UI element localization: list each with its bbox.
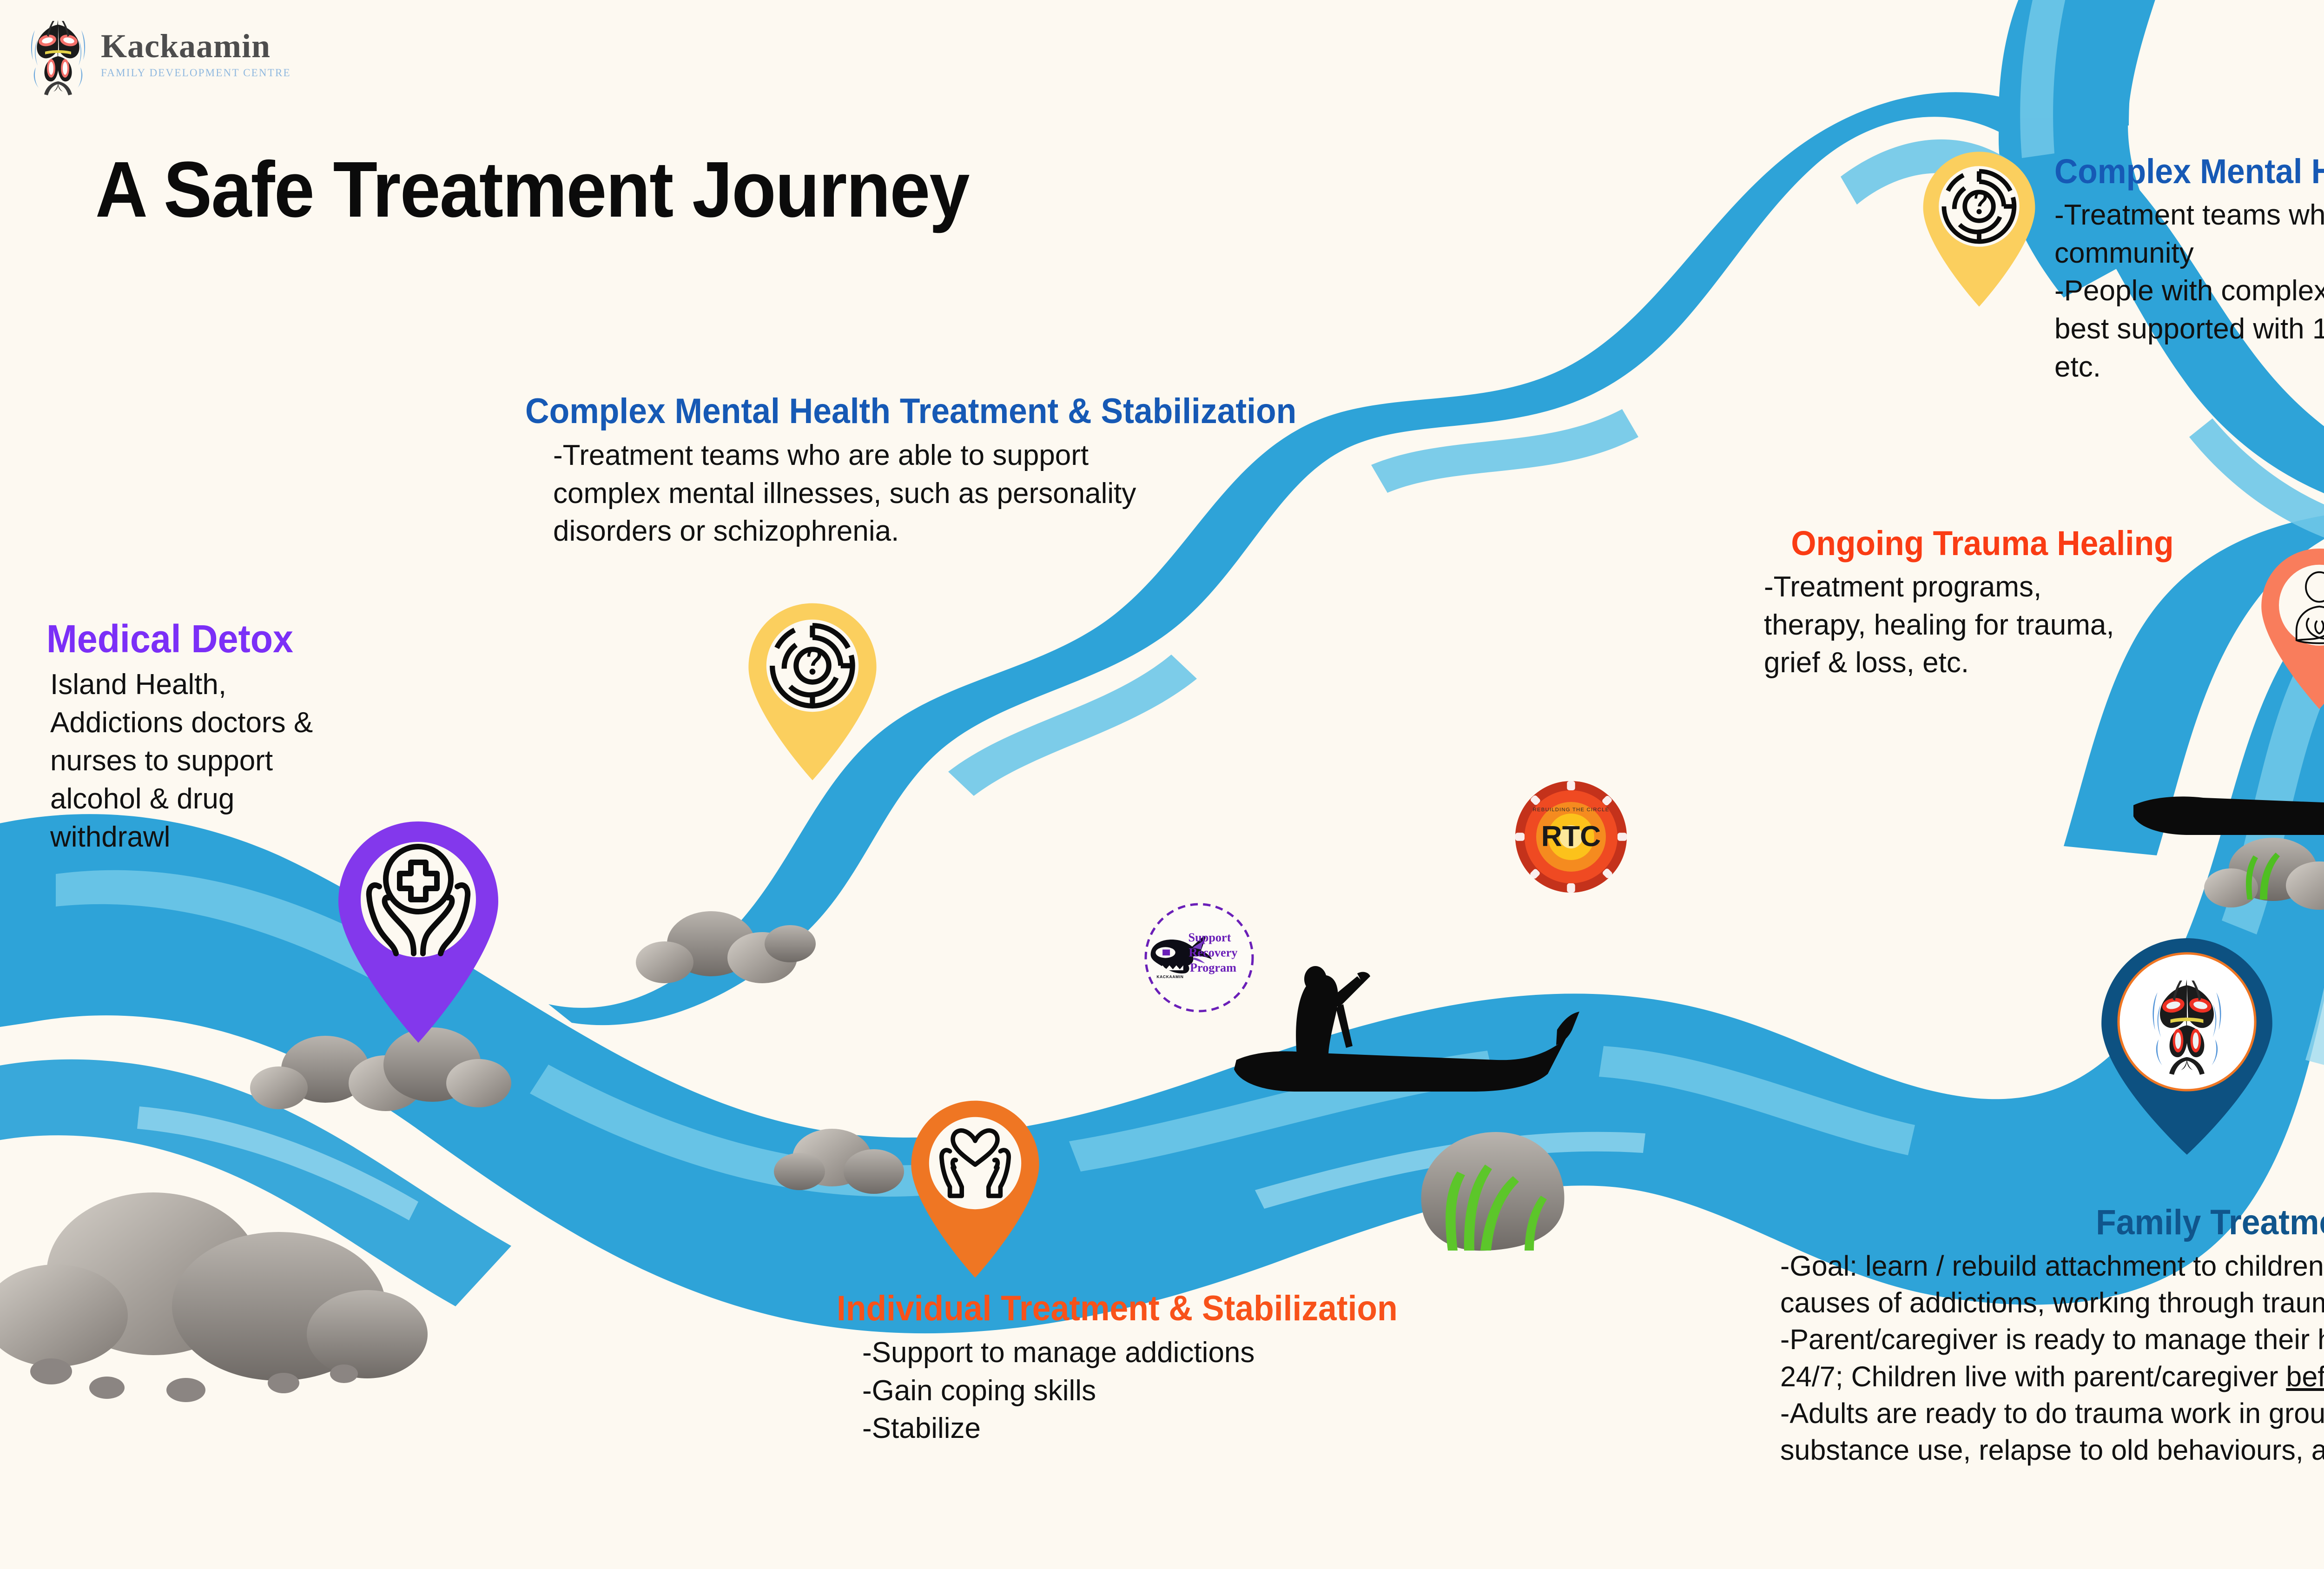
- canoe-with-paddler-icon: [1234, 966, 1579, 1092]
- brand-subtitle: FAMILY DEVELOPMENT CENTRE: [101, 67, 291, 78]
- rtc-badge-small: RTC REBUILDING THE CIRCLE: [1513, 779, 1629, 897]
- stage-body-family-treatment: -Goal: learn / rebuild attachment to chi…: [1780, 1248, 2324, 1469]
- stage-body-ongoing-trauma-healing: -Treatment programs, therapy, healing fo…: [1764, 568, 2245, 682]
- rtc-badge-label: RTC: [1541, 820, 1601, 853]
- stage-heading-individual-treatment-stabilization: Individual Treatment & Stabilization: [837, 1290, 1501, 1327]
- stage-block-individual-treatment-stabilization: Individual Treatment & Stabilization -Su…: [837, 1290, 1543, 1448]
- svg-text:Support: Support: [1188, 931, 1231, 944]
- rock-cluster-orange-pin: [774, 1129, 904, 1194]
- stage-body-cmh-therapy: -Treatment teams who are able to support…: [2054, 196, 2324, 386]
- stage-heading-cmh-treatment-stabilization: Complex Mental Health Treatment & Stabil…: [525, 393, 1294, 430]
- svg-text:Program: Program: [1190, 961, 1236, 974]
- map-pin-individual-treatment[interactable]: [901, 1096, 1050, 1282]
- stage-block-complex-mental-health-treatment-stabilization: Complex Mental Health Treatment & Stabil…: [525, 393, 1343, 550]
- rock-cluster-left: [0, 1192, 428, 1402]
- support-recovery-program-badge: KACKAAMIN Support Recovery Program: [1141, 900, 1257, 1018]
- stage-block-complex-mental-health-therapy: Complex Mental Health Therapy -Treatment…: [2054, 153, 2324, 386]
- map-pin-ongoing-trauma-healing[interactable]: [2252, 544, 2324, 714]
- stage-block-family-treatment: Family Treatment -Goal: learn / rebuild …: [1780, 1204, 2324, 1469]
- stage-body-cmh-treatment-stabilization: -Treatment teams who are able to support…: [553, 437, 1343, 550]
- stage-heading-family-treatment: Family Treatment: [1780, 1204, 2324, 1241]
- badge-sub-label: KACKAAMIN: [1156, 974, 1183, 979]
- infographic-canvas: Kackaamin FAMILY DEVELOPMENT CENTRE A Sa…: [0, 0, 2324, 1569]
- stage-block-ongoing-trauma-healing: Ongoing Trauma Healing -Treatment progra…: [1720, 525, 2245, 682]
- stage-body-individual-treatment-stabilization: -Support to manage addictions -Gain copi…: [862, 1334, 1543, 1448]
- svg-text:Recovery: Recovery: [1189, 946, 1238, 960]
- page-title: A Safe Treatment Journey: [95, 144, 969, 235]
- map-pin-medical-detox[interactable]: [325, 816, 511, 1048]
- map-pin-family-treatment[interactable]: [2092, 934, 2282, 1158]
- map-pin-cmh-treatment-stabilization[interactable]: [738, 599, 887, 785]
- canoe-icon: [2133, 769, 2324, 835]
- rock-cluster-family: [2204, 838, 2324, 910]
- stage-heading-cmh-therapy: Complex Mental Health Therapy: [2054, 153, 2324, 190]
- rtc-badge-sublabel: REBUILDING THE CIRCLE: [1533, 807, 1610, 813]
- rock-with-grass: [1421, 1132, 1565, 1251]
- brand-logo: Kackaamin FAMILY DEVELOPMENT CENTRE: [26, 12, 291, 95]
- map-pin-cmh-therapy[interactable]: [1914, 148, 2044, 311]
- stage-heading-ongoing-trauma-healing: Ongoing Trauma Healing: [1736, 525, 2229, 562]
- stage-heading-medical-detox: Medical Detox: [46, 618, 378, 659]
- butterfly-logo-icon: [26, 12, 91, 95]
- brand-name: Kackaamin: [101, 29, 291, 63]
- rock-cluster-right-of-detox: [636, 911, 816, 983]
